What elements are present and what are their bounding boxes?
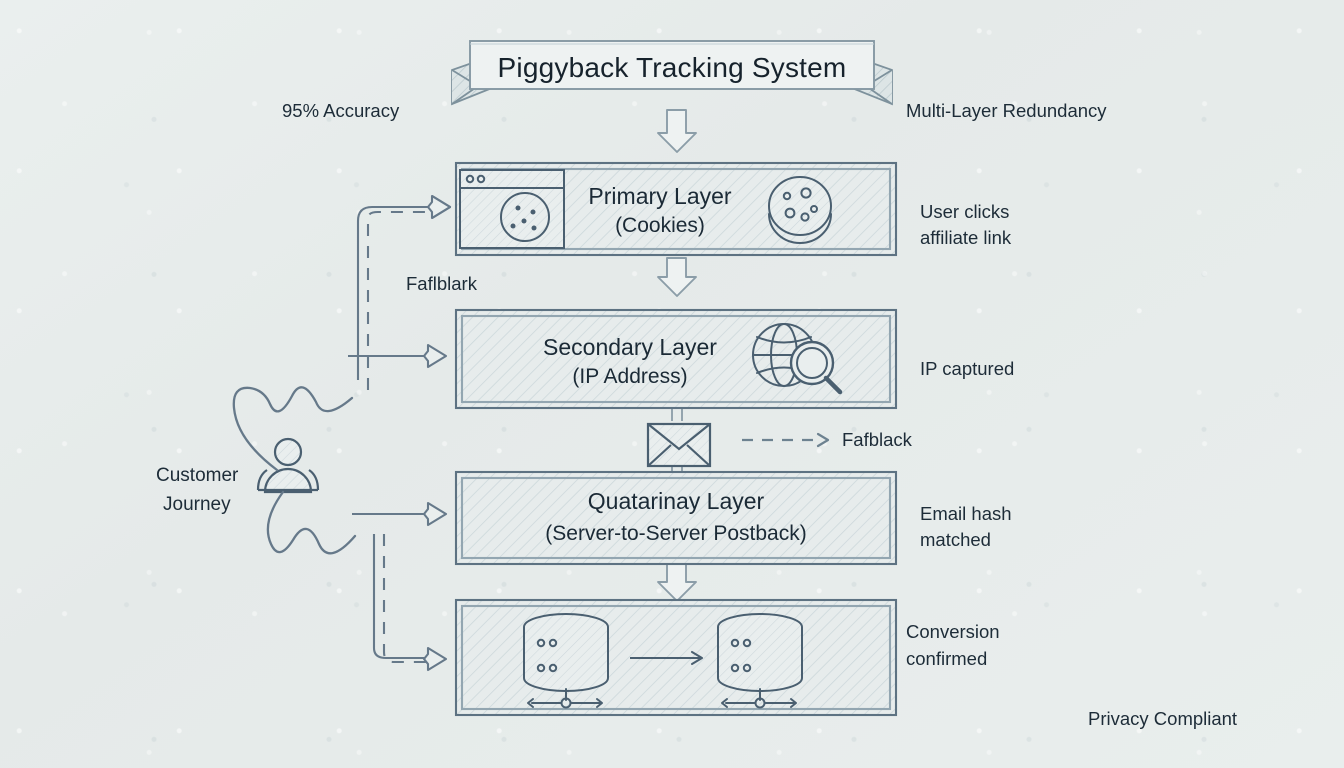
squiggle-path-to-quatarinay [268, 492, 446, 553]
browser-window-cookie-icon [460, 170, 564, 248]
layer-subtitle-primary: (Cookies) [575, 213, 745, 240]
connector-banner-to-primary [658, 110, 696, 152]
annotation-privacy-compliant: Privacy Compliant [1088, 707, 1237, 731]
layer-title-secondary: Secondary Layer [520, 333, 740, 362]
dashed-arrow-fafblack [742, 434, 828, 446]
squiggle-path-to-secondary [234, 345, 446, 470]
layer-subtitle-secondary: (IP Address) [520, 364, 740, 391]
annotation-redundancy: Multi-Layer Redundancy [906, 99, 1107, 123]
annotation-email-hash-line2: matched [920, 528, 991, 552]
annotation-fafblack: Fafblack [842, 428, 912, 452]
layer-subtitle-quatarinay: (Server-to-Server Postback) [456, 521, 896, 548]
connector-quatarinay-to-database [658, 563, 696, 601]
page-title: Piggyback Tracking System [491, 50, 853, 86]
diagram-canvas: Piggyback Tracking System 95% Accuracy M… [0, 0, 1344, 768]
annotation-faflblark: Faflblark [406, 272, 477, 296]
connector-primary-to-secondary [658, 258, 696, 296]
annotation-conversion-line2: confirmed [906, 647, 987, 671]
label-customer-journey-line1: Customer [156, 464, 238, 488]
annotation-user-clicks-line2: affiliate link [920, 226, 1011, 250]
annotation-user-clicks-line1: User clicks [920, 200, 1009, 224]
annotation-conversion-line1: Conversion [906, 620, 1000, 644]
envelope-icon [648, 424, 710, 466]
annotation-email-hash-line1: Email hash [920, 502, 1012, 526]
dashed-path-to-database [374, 534, 446, 670]
layer-title-primary: Primary Layer [575, 182, 745, 211]
layer-box-quatarinay[interactable] [456, 472, 896, 564]
annotation-ip-captured: IP captured [920, 357, 1014, 381]
person-group-icon [258, 439, 318, 492]
layer-title-quatarinay: Quatarinay Layer [456, 487, 896, 516]
label-customer-journey-line2: Journey [163, 493, 231, 517]
annotation-accuracy: 95% Accuracy [282, 99, 399, 123]
